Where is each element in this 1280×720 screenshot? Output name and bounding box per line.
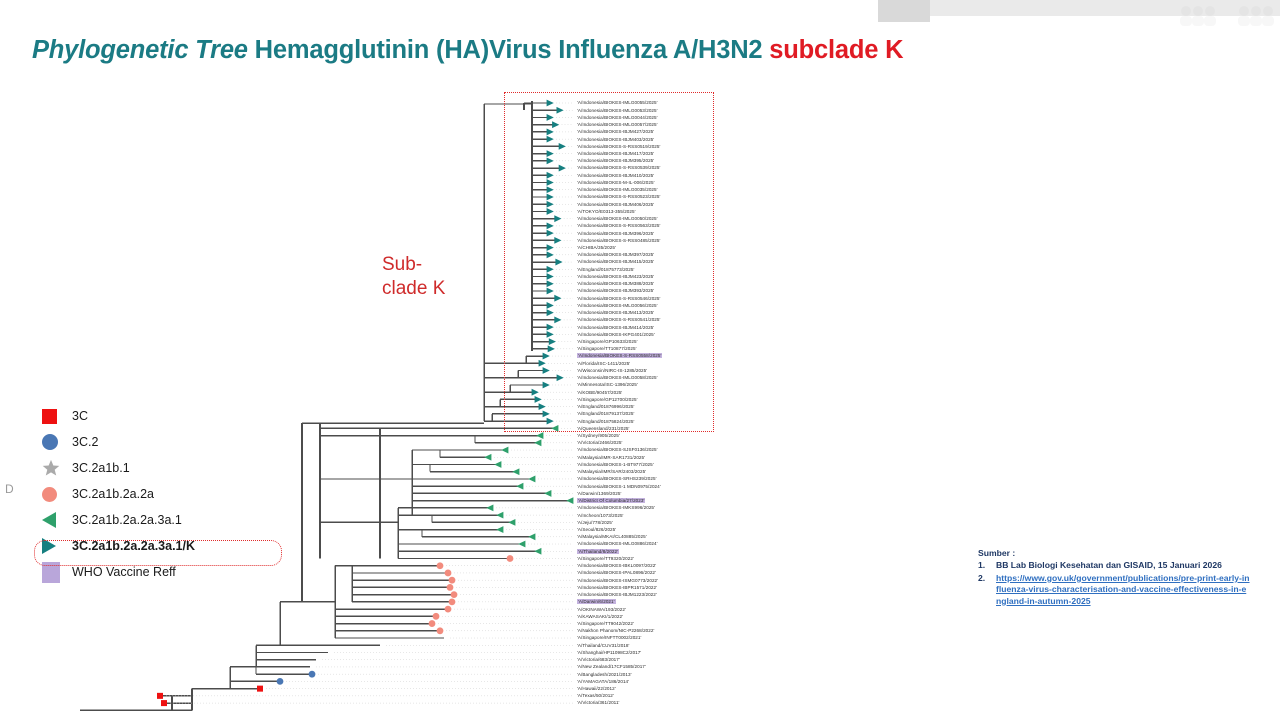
tree-tip-label: 'A/Queensland/231/2025' bbox=[577, 426, 629, 431]
tree-tip-label: 'A/Texas/50/2012' bbox=[577, 693, 614, 698]
tree-tip-label: 'A/Victoria/361/2011' bbox=[577, 700, 619, 705]
tree-tip-label: 'A/Thailand/8/2022' bbox=[577, 549, 619, 554]
tree-tip-label: 'A/Sydney/905/2025' bbox=[577, 433, 620, 438]
tree-tip-label: 'A/Darwin/1369/2025' bbox=[577, 491, 621, 496]
tree-tip-label: 'A/England/01879137/2025' bbox=[577, 411, 634, 416]
tree-tip-label: 'A/Singapore/GP10633/2025' bbox=[577, 339, 638, 344]
tree-tip-label: 'A/Indonesia/BIOKES-IBJM423/2025' bbox=[577, 274, 654, 279]
tree-tip-label: 'A/Indonesia/BIOKES-IBJM413/2025' bbox=[577, 310, 654, 315]
red-square-icon bbox=[42, 403, 72, 429]
tree-tip-label: 'A/Indonesia/BIOKES-IBJM1223/2022' bbox=[577, 592, 657, 597]
tree-tip-label: 'A/Indonesia/BIOKES-IBKL0097/2022' bbox=[577, 563, 656, 568]
tree-tip-label: 'A/Indonesia/BIOKES-IBJM415/2025' bbox=[577, 259, 654, 264]
tree-tip-label: 'A/Indonesia/BIOKES-IMLG0035/2025' bbox=[577, 187, 658, 192]
title-upright-part: Hemagglutinin (HA)Virus Influenza A/H3N2 bbox=[248, 36, 770, 64]
title-red-part: subclade K bbox=[769, 36, 903, 64]
tree-tip-label: 'A/Indonesia/BIOKES-1 MDN0975/2024' bbox=[577, 484, 661, 489]
tree-tip-label: 'A/Singapore/TT9042/2022' bbox=[577, 621, 634, 626]
tip-label-layer: 'A/Indonesia/BIOKES-IMLG0055/2025''A/Ind… bbox=[80, 88, 740, 716]
tree-tip-label: 'A/Hawaii/22/2012' bbox=[577, 686, 616, 691]
tree-tip-label: 'A/Indonesia/BIOKES-IBJM396/2025' bbox=[577, 231, 654, 236]
tree-tip-label: 'A/Florida/ISC-1411/2025' bbox=[577, 361, 630, 366]
tree-tip-label: 'A/TOKYO/E0313-355/2025' bbox=[577, 209, 636, 214]
tree-tip-label: 'A/Indonesia/BIOKES-IBJM388/2025' bbox=[577, 281, 654, 286]
tree-tip-label: 'A/Bangladesh/2021/2013' bbox=[577, 672, 632, 677]
tree-tip-label: 'A/Indonesia/BIOKES-IPAL0896/2022' bbox=[577, 570, 656, 575]
tree-tip-label: 'A/KOBE/90457/2025' bbox=[577, 390, 622, 395]
tree-tip-label: 'A/Indonesia/BIOKES-SJSF0136/2025' bbox=[577, 447, 658, 452]
source-heading: Sumber : bbox=[978, 548, 1250, 559]
tree-tip-label: 'A/Thailand/CUV31/2018' bbox=[577, 643, 629, 648]
tree-tip-label: 'A/District Of Columbia/27/2023' bbox=[577, 498, 645, 503]
tree-tip-label: 'A/OKINAWA/193/2022' bbox=[577, 607, 626, 612]
tree-tip-label: 'A/Indonesia/BIOKES-S-RSS0541/2025' bbox=[577, 317, 660, 322]
tree-tip-label: 'A/Wisconsin/NIRC-IS-1285/2025' bbox=[577, 368, 647, 373]
tree-tip-label: 'A/Indonesia/BIOKES-IKPG401/2025' bbox=[577, 332, 655, 337]
tree-tip-label: 'A/Singapore/TT10877/2025' bbox=[577, 346, 637, 351]
tree-tip-label: 'A/Shanghai/HP11098C2/2017' bbox=[577, 650, 641, 655]
tree-tip-label: 'A/Malaysia/MKAI/CL40885/2025' bbox=[577, 534, 647, 539]
tree-tip-label: 'A/Indonesia/BIOKES-S-RSS0485/2025' bbox=[577, 238, 660, 243]
purple-square-icon bbox=[42, 559, 72, 585]
source-text: BB Lab Biologi Kesehatan dan GISAID, 15 … bbox=[996, 560, 1222, 571]
tree-tip-label: 'A/Indonesia/BIOKES-S-RSS0519/2025' bbox=[577, 144, 660, 149]
tree-tip-label: 'A/Indonesia/BIOKES-IMLG0050/2025' bbox=[577, 216, 658, 221]
tree-tip-label: 'A/New Zealand/17CF1585/2017' bbox=[577, 664, 646, 669]
tree-tip-label: 'A/Indonesia/BIOKES-IMLG0057/2025' bbox=[577, 122, 658, 127]
page-title: Phylogenetic Tree Hemagglutinin (HA)Viru… bbox=[32, 36, 903, 65]
tree-tip-label: 'A/Indonesia/BIOKES-IMLG0886/2024' bbox=[577, 541, 658, 546]
tree-tip-label: 'A/Malaysia/IMR-SAR1731/2025' bbox=[577, 455, 645, 460]
tree-tip-label: 'A/Indonesia/BIOKES-M-IL-006/2025' bbox=[577, 180, 655, 185]
tree-tip-label: 'A/Nakhon Phanom/NIC-P2268/2022' bbox=[577, 628, 654, 633]
tree-tip-label: 'A/Malaysia/IMR/SAR/2403/2025' bbox=[577, 469, 646, 474]
tree-tip-label: 'A/YAMAGATA/186/2014' bbox=[577, 679, 629, 684]
source-item: 1. BB Lab Biologi Kesehatan dan GISAID, … bbox=[978, 560, 1250, 571]
tree-tip-label: 'A/Indonesia/BIOKES-IBJM393/2025' bbox=[577, 288, 654, 293]
tree-tip-label: 'A/Indonesia/BIOKES-IMLG0058/2025' bbox=[577, 375, 658, 380]
tree-tip-label: 'A/Indonesia/BIOKES-S-RSS0563/2025' bbox=[577, 223, 660, 228]
tree-tip-label: 'A/Indonesia/BIOKES-S-RSS0558/2025' bbox=[577, 353, 662, 358]
tree-tip-label: 'A/Indonesia/BIOKES-IMLG0044/2025' bbox=[577, 115, 658, 120]
tree-tip-label: 'A/Singapore/TT9320/2022' bbox=[577, 556, 634, 561]
tree-tip-label: 'A/England/01876996/2025' bbox=[577, 404, 634, 409]
title-italic-part: Phylogenetic Tree bbox=[32, 36, 248, 64]
tree-tip-label: 'A/Darwin/6/2021' bbox=[577, 599, 616, 604]
tree-tip-label: 'A/Victoria/2466/2025' bbox=[577, 440, 622, 445]
tree-tip-label: 'A/England/01875773/2025' bbox=[577, 267, 634, 272]
tree-tip-label: 'A/Indonesia/BIOKES-IBPR1571/2022' bbox=[577, 585, 657, 590]
watermark-logo bbox=[1168, 2, 1274, 26]
tree-tip-label: 'A/Seoul/826/2025' bbox=[577, 527, 616, 532]
grey-star-icon bbox=[42, 455, 72, 481]
tree-tip-label: 'A/Indonesia/BIOKES-IBJM403/2025' bbox=[577, 137, 654, 142]
tree-tip-label: 'A/Indonesia/BIOKES-IMLG0055/2025' bbox=[577, 100, 658, 105]
tree-tip-label: 'A/Indonesia/BIOKES-SRHS239/2025' bbox=[577, 476, 657, 481]
blue-circle-icon bbox=[42, 429, 72, 455]
side-marginal-letter: D bbox=[5, 482, 14, 496]
green-left-triangle-icon bbox=[42, 507, 72, 533]
tree-tip-label: 'A/Indonesia/BIOKES-S-RSS0546/2025' bbox=[577, 296, 660, 301]
source-number: 1. bbox=[978, 560, 990, 571]
tree-tip-label: 'A/Minnesota/ISC-1396/2025' bbox=[577, 382, 638, 387]
slide-top-block bbox=[878, 0, 930, 22]
slide-canvas: D Phylogenetic Tree Hemagglutinin (HA)Vi… bbox=[0, 0, 1280, 720]
source-citation: Sumber : 1. BB Lab Biologi Kesehatan dan… bbox=[978, 548, 1250, 608]
slide-left-margin bbox=[0, 0, 14, 720]
tree-tip-label: 'A/England/01875824/2025' bbox=[577, 419, 634, 424]
tree-tip-label: 'A/Singapore/GP12700/2025' bbox=[577, 397, 638, 402]
phylogenetic-tree: 'A/Indonesia/BIOKES-IMLG0055/2025''A/Ind… bbox=[80, 88, 740, 716]
tree-tip-label: 'A/CHIBA/35/2025' bbox=[577, 245, 616, 250]
source-number: 2. bbox=[978, 573, 990, 607]
tree-tip-label: 'A/Indonesia/BIOKES-S-RSS0539/2025' bbox=[577, 165, 660, 170]
tree-tip-label: 'A/KAWASAKI/1/2022' bbox=[577, 614, 623, 619]
tree-tip-label: 'A/Indonesia/BIOKES-IMLG0056/2025' bbox=[577, 303, 658, 308]
tree-tip-label: 'A/Indonesia/BIOKES-IMKS996/2025' bbox=[577, 505, 655, 510]
tree-tip-label: 'A/Indonesia/BIOKES-IBJM417/2025' bbox=[577, 151, 654, 156]
tree-tip-label: 'A/Indonesia/BIOKES-IBJM427/2025' bbox=[577, 129, 654, 134]
tree-tip-label: 'A/Incheon/1073/2025' bbox=[577, 513, 623, 518]
source-item[interactable]: 2. https://www.gov.uk/government/publica… bbox=[978, 573, 1250, 607]
tree-tip-label: 'A/Indonesia/BIOKES-IBJM414/2025' bbox=[577, 325, 654, 330]
tree-tip-label: 'A/Singapore/INFTT0002/2021' bbox=[577, 635, 641, 640]
tree-tip-label: 'A/Indonesia/BIOKES-IBJM410/2025' bbox=[577, 173, 654, 178]
tree-tip-label: 'A/Indonesia/BIOKES-ISMG0773/2022' bbox=[577, 578, 658, 583]
tree-tip-label: 'A/Indonesia/BIOKES-IBJM395/2025' bbox=[577, 158, 654, 163]
tree-tip-label: 'A/Indonesia/BIOKES-IBJM397/2025' bbox=[577, 252, 654, 257]
tree-tip-label: 'A/Indonesia/BIOKES-1-BT977/2025' bbox=[577, 462, 654, 467]
tree-tip-label: 'A/Victoria/683/2017' bbox=[577, 657, 620, 662]
tree-tip-label: 'A/Jeju/778/2025' bbox=[577, 520, 613, 525]
source-link[interactable]: https://www.gov.uk/government/publicatio… bbox=[996, 573, 1250, 607]
salmon-circle-icon bbox=[42, 481, 72, 507]
tree-tip-label: 'A/Indonesia/BIOKES-IMLG0053/2025' bbox=[577, 108, 658, 113]
teal-right-triangle-icon bbox=[42, 533, 72, 559]
tree-tip-label: 'A/Indonesia/BIOKES-S-RSS0523/2025' bbox=[577, 194, 660, 199]
tree-tip-label: 'A/Indonesia/BIOKES-IBJM406/2025' bbox=[577, 202, 654, 207]
